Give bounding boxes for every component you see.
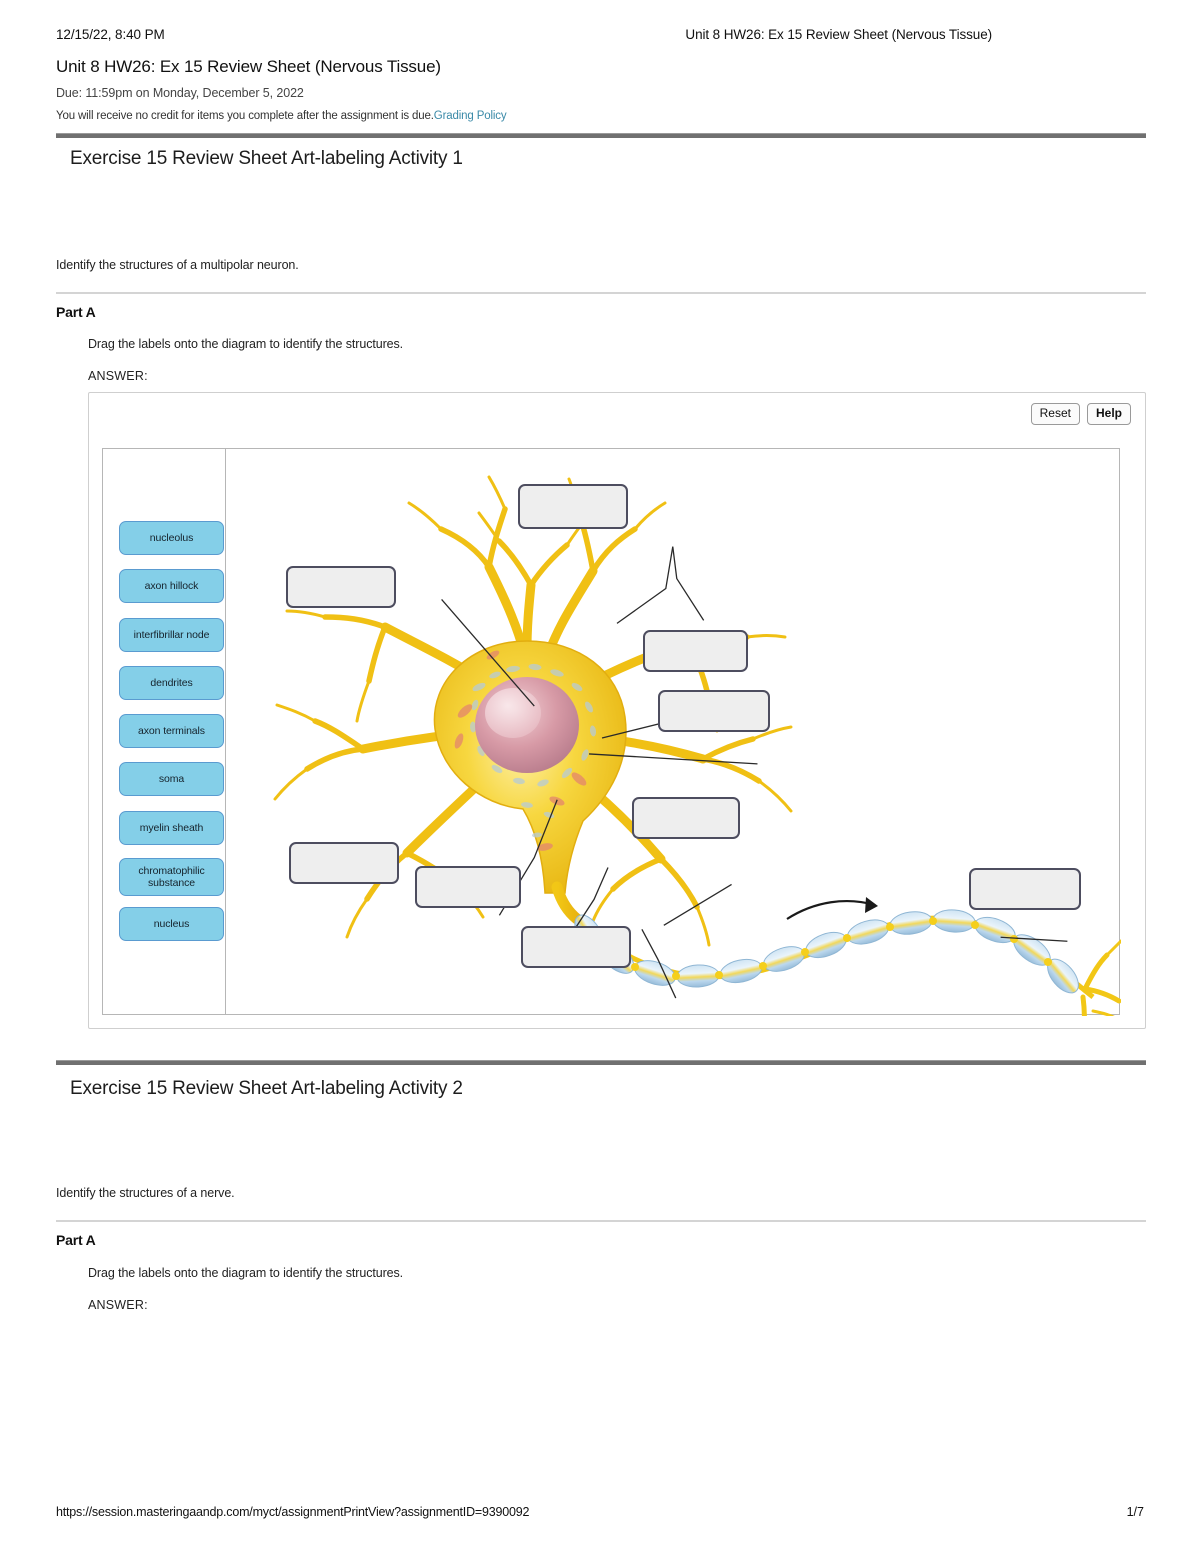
- label-chip-chromatophilic-substance[interactable]: chromatophilic substance: [119, 858, 224, 896]
- drop-target-far-right[interactable]: [969, 868, 1081, 910]
- activity2-identify-text: Identify the structures of a nerve.: [56, 1186, 235, 1200]
- drop-target-right-axon[interactable]: [632, 797, 740, 839]
- label-chip-axon-hillock[interactable]: axon hillock: [119, 569, 224, 603]
- part-divider-1: [56, 292, 1146, 294]
- drop-target-right-upper[interactable]: [643, 630, 748, 672]
- label-chip-dendrites[interactable]: dendrites: [119, 666, 224, 700]
- footer-url: https://session.masteringaandp.com/myct/…: [56, 1505, 529, 1519]
- section-divider-1: [56, 133, 1146, 138]
- drop-target-right-middle[interactable]: [658, 690, 770, 732]
- print-doc-title: Unit 8 HW26: Ex 15 Review Sheet (Nervous…: [685, 27, 992, 42]
- assignment-late-note: You will receive no credit for items you…: [56, 110, 506, 122]
- axon-terminals-shape: [1071, 941, 1121, 1016]
- late-note-text: You will receive no credit for items you…: [56, 110, 434, 122]
- label-chip-soma[interactable]: soma: [119, 762, 224, 796]
- soma-body: [434, 641, 626, 893]
- print-header: 12/15/22, 8:40 PM Unit 8 HW26: Ex 15 Rev…: [56, 27, 1146, 42]
- activity2-part-label: Part A: [56, 1232, 96, 1248]
- art-labeling-activity-panel: Reset Help: [88, 392, 1146, 1029]
- impulse-direction-arrow: [787, 897, 878, 919]
- footer-page-number: 1/7: [1127, 1505, 1144, 1519]
- labeling-canvas: nucleolusaxon hillockinterfibrillar node…: [102, 448, 1120, 1015]
- label-chip-nucleus[interactable]: nucleus: [119, 907, 224, 941]
- label-chip-myelin-sheath[interactable]: myelin sheath: [119, 811, 224, 845]
- activity1-title: Exercise 15 Review Sheet Art-labeling Ac…: [70, 148, 463, 170]
- label-chip-nucleolus[interactable]: nucleolus: [119, 521, 224, 555]
- activity1-instruction: Drag the labels onto the diagram to iden…: [88, 337, 403, 351]
- label-chip-interfibrillar-node[interactable]: interfibrillar node: [119, 618, 224, 652]
- print-page: 12/15/22, 8:40 PM Unit 8 HW26: Ex 15 Rev…: [0, 0, 1200, 1553]
- assignment-due-date: Due: 11:59pm on Monday, December 5, 2022: [56, 86, 304, 100]
- multipolar-neuron-illustration: [227, 449, 1121, 1016]
- part-divider-2: [56, 1220, 1146, 1222]
- label-chip-axon-terminals[interactable]: axon terminals: [119, 714, 224, 748]
- nucleus-shape: [475, 677, 579, 773]
- drop-target-center-lower[interactable]: [415, 866, 521, 908]
- assignment-title: Unit 8 HW26: Ex 15 Review Sheet (Nervous…: [56, 57, 441, 77]
- activity1-identify-text: Identify the structures of a multipolar …: [56, 258, 299, 272]
- activity2-instruction: Drag the labels onto the diagram to iden…: [88, 1266, 403, 1280]
- activity-toolbar: Reset Help: [1031, 403, 1131, 425]
- drop-target-top-dendrites[interactable]: [518, 484, 628, 529]
- drop-target-bottom-center[interactable]: [521, 926, 631, 968]
- help-button[interactable]: Help: [1087, 403, 1131, 425]
- activity2-title: Exercise 15 Review Sheet Art-labeling Ac…: [70, 1078, 463, 1100]
- drop-target-left-upper[interactable]: [286, 566, 396, 608]
- activity2-answer-label: ANSWER:: [88, 1298, 148, 1312]
- section-divider-2: [56, 1060, 1146, 1065]
- drop-target-left-lower[interactable]: [289, 842, 399, 884]
- reset-button[interactable]: Reset: [1031, 403, 1080, 425]
- myelin-sheath-shape: [569, 909, 1093, 999]
- nucleolus-shape: [485, 688, 541, 738]
- grading-policy-link[interactable]: Grading Policy: [434, 110, 507, 122]
- activity1-answer-label: ANSWER:: [88, 369, 148, 383]
- activity1-part-label: Part A: [56, 304, 96, 320]
- print-timestamp: 12/15/22, 8:40 PM: [56, 27, 165, 42]
